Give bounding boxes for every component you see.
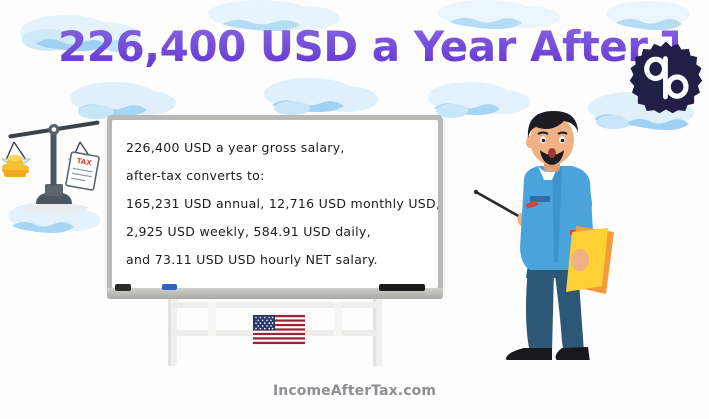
marker-tray	[107, 288, 443, 299]
board-text-line: 226,400 USD a year gross salary,	[126, 134, 438, 162]
scale-right-pan: TAX	[66, 142, 99, 190]
footer-brand: IncomeAfterTax.com	[0, 383, 709, 399]
black-marker	[379, 284, 425, 291]
title-container: 226,400 USD a Year After Tax US	[0, 18, 709, 82]
name-badge	[530, 196, 550, 202]
whiteboard-surface: 226,400 USD a year gross salary, after-t…	[112, 120, 438, 288]
whiteboard-eraser	[115, 284, 131, 291]
left-leg	[526, 268, 554, 354]
left-ear	[526, 136, 534, 148]
percent-badge	[629, 40, 703, 114]
teacher-figure	[470, 108, 630, 360]
board-text-line: after-tax converts to:	[126, 162, 438, 190]
us-flag	[253, 315, 305, 344]
right-shoe	[556, 347, 590, 360]
infographic-canvas: 226,400 USD a Year After Tax US	[0, 0, 709, 419]
tax-document: TAX	[66, 152, 99, 190]
board-text-line: 165,231 USD annual, 12,716 USD monthly U…	[126, 190, 438, 218]
blue-marker	[162, 284, 177, 290]
whiteboard: 226,400 USD a year gross salary, after-t…	[107, 115, 443, 293]
scale-left-pan	[2, 142, 30, 177]
balance-scale-illustration: TAX	[2, 112, 106, 216]
left-shoe	[506, 348, 552, 360]
scale-shadow	[20, 203, 88, 213]
board-text-line: and 73.11 USD USD hourly NET salary.	[126, 246, 438, 274]
mouth	[548, 148, 556, 158]
right-hand	[571, 249, 589, 271]
pointer-stick	[474, 190, 522, 218]
board-text-line: 2,925 USD weekly, 584.91 USD daily,	[126, 218, 438, 246]
page-title: 226,400 USD a Year After Tax US	[58, 18, 678, 76]
scale-column	[51, 126, 57, 186]
